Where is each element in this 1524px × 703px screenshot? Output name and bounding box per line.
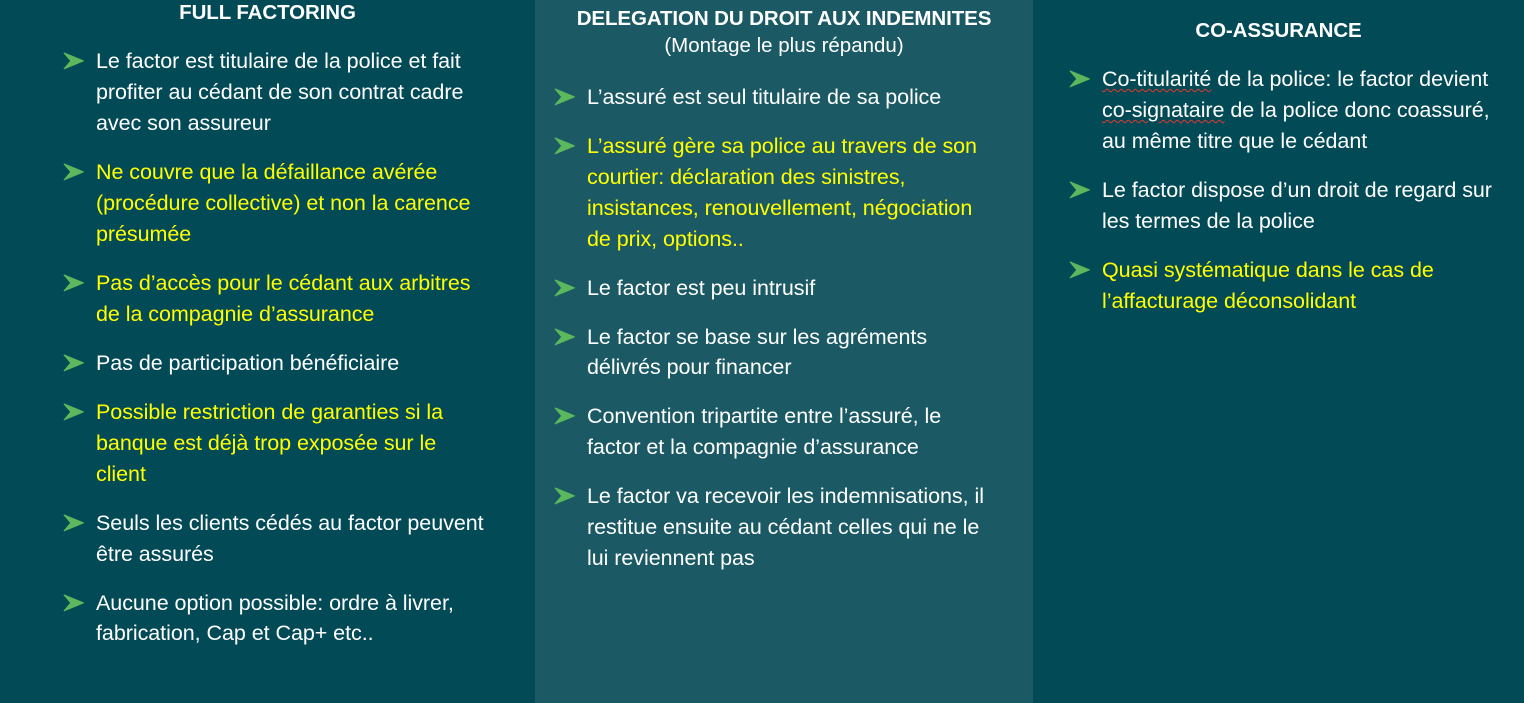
bullet-item: Le factor se base sur les agréments déli… (553, 322, 997, 384)
bullet-item: Pas de participation bénéficiaire (62, 348, 485, 379)
bullet-item: Possible restriction de garanties si la … (62, 397, 485, 490)
column-delegation-droit-indemnites: DELEGATION DU DROIT AUX INDEMNITES (Mont… (535, 0, 1033, 703)
bullet-text: Ne couvre que la défaillance avérée (pro… (96, 157, 485, 250)
arrow-chevron-bullet-icon (1068, 64, 1102, 89)
bullet-item: Co-titularité de la police: le factor de… (1068, 64, 1500, 157)
arrow-chevron-bullet-icon (553, 273, 587, 298)
arrow-chevron-bullet-icon (553, 82, 587, 107)
arrow-chevron-bullet-icon (62, 397, 96, 422)
bullet-text: Le factor est titulaire de la police et … (96, 46, 485, 139)
column-title-delegation: DELEGATION DU DROIT AUX INDEMNITES (535, 7, 1033, 31)
bullet-item: Convention tripartite entre l’assuré, le… (553, 401, 997, 463)
bullet-text: Pas d’accès pour le cédant aux arbitres … (96, 268, 485, 330)
column-title-co-assurance: CO-ASSURANCE (1033, 19, 1524, 43)
bullet-list-delegation: L’assuré est seul titulaire de sa police… (535, 82, 1033, 574)
arrow-chevron-bullet-icon (62, 348, 96, 373)
arrow-chevron-bullet-icon (553, 481, 587, 506)
spellcheck-flagged-word: Co-titularité (1102, 67, 1211, 91)
bullet-item: Pas d’accès pour le cédant aux arbitres … (62, 268, 485, 330)
bullet-text: Convention tripartite entre l’assuré, le… (587, 401, 997, 463)
bullet-text: Aucune option possible: ordre à livrer, … (96, 588, 485, 650)
arrow-chevron-bullet-icon (553, 322, 587, 347)
arrow-chevron-bullet-icon (553, 131, 587, 156)
bullet-item: Ne couvre que la défaillance avérée (pro… (62, 157, 485, 250)
bullet-text: Seuls les clients cédés au factor peuven… (96, 508, 485, 570)
bullet-text: L’assuré gère sa police au travers de so… (587, 131, 997, 255)
bullet-item: Le factor est peu intrusif (553, 273, 997, 304)
arrow-chevron-bullet-icon (553, 401, 587, 426)
arrow-chevron-bullet-icon (1068, 255, 1102, 280)
bullet-item: Le factor est titulaire de la police et … (62, 46, 485, 139)
arrow-chevron-bullet-icon (1068, 175, 1102, 200)
arrow-chevron-bullet-icon (62, 268, 96, 293)
column-subtitle-delegation: (Montage le plus répandu) (535, 33, 1033, 59)
bullet-text: Le factor dispose d’un droit de regard s… (1102, 175, 1500, 237)
bullet-text: Quasi systématique dans le cas de l’affa… (1102, 255, 1500, 317)
bullet-item: L’assuré gère sa police au travers de so… (553, 131, 997, 255)
bullet-item: Le factor va recevoir les indemnisations… (553, 481, 997, 574)
column-title-full-factoring: FULL FACTORING (0, 1, 535, 25)
bullet-text: Pas de participation bénéficiaire (96, 348, 485, 379)
bullet-item: Aucune option possible: ordre à livrer, … (62, 588, 485, 650)
bullet-item: Le factor dispose d’un droit de regard s… (1068, 175, 1500, 237)
arrow-chevron-bullet-icon (62, 588, 96, 613)
bullet-item: Seuls les clients cédés au factor peuven… (62, 508, 485, 570)
bullet-text: Le factor va recevoir les indemnisations… (587, 481, 997, 574)
column-co-assurance: CO-ASSURANCE Co-titularité de la police:… (1033, 0, 1524, 703)
bullet-list-co-assurance: Co-titularité de la police: le factor de… (1033, 64, 1524, 317)
bullet-text-run: de la police: le factor devient (1211, 67, 1488, 91)
bullet-text: Le factor se base sur les agréments déli… (587, 322, 997, 384)
bullet-item: L’assuré est seul titulaire de sa police (553, 82, 997, 113)
arrow-chevron-bullet-icon (62, 157, 96, 182)
bullet-text: Co-titularité de la police: le factor de… (1102, 64, 1500, 157)
bullet-item: Quasi systématique dans le cas de l’affa… (1068, 255, 1500, 317)
arrow-chevron-bullet-icon (62, 508, 96, 533)
bullet-text: Le factor est peu intrusif (587, 273, 997, 304)
column-full-factoring: FULL FACTORING Le factor est titulaire d… (0, 0, 535, 703)
spellcheck-flagged-word: co-signataire (1102, 98, 1224, 122)
bullet-list-full-factoring: Le factor est titulaire de la police et … (0, 46, 535, 649)
slide-canvas: FULL FACTORING Le factor est titulaire d… (0, 0, 1524, 703)
arrow-chevron-bullet-icon (62, 46, 96, 71)
bullet-text: Possible restriction de garanties si la … (96, 397, 485, 490)
bullet-text: L’assuré est seul titulaire de sa police (587, 82, 997, 113)
